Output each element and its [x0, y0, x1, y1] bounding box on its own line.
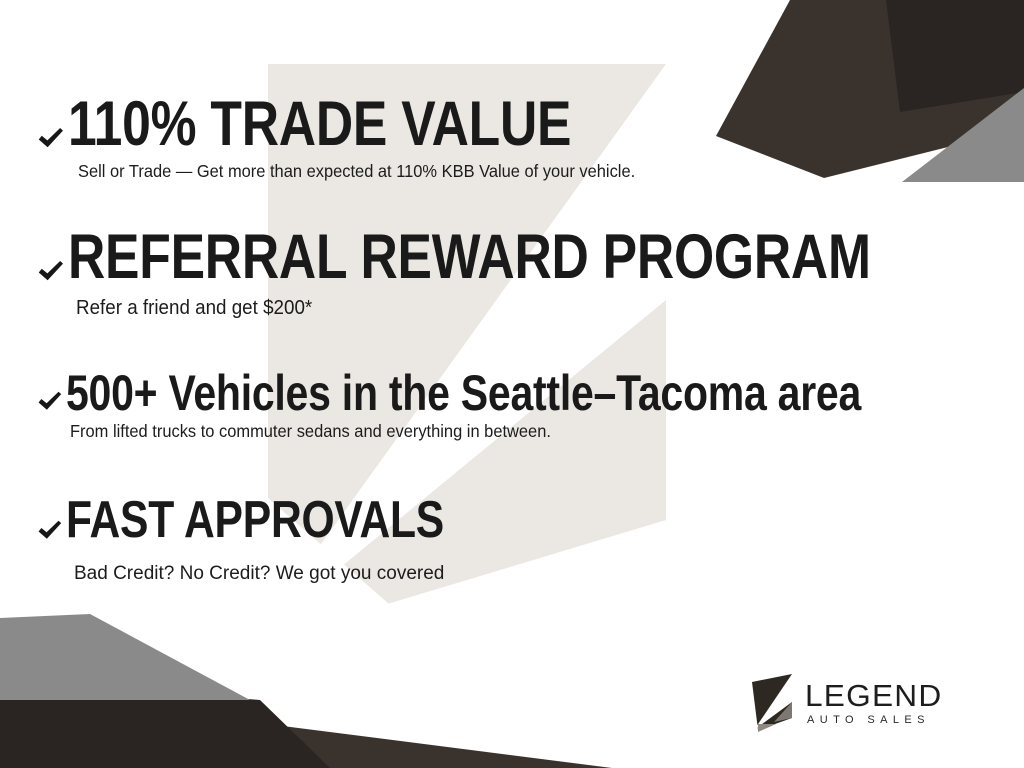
feature-item-fast-approvals: FAST APPROVALS Bad Credit? No Credit? We… [36, 497, 1016, 585]
feature-headline: REFERRAL REWARD PROGRAM [68, 229, 871, 287]
legend-angular-mark-icon [748, 672, 796, 734]
logo-text-block: LEGEND AUTO SALES [805, 680, 940, 727]
check-icon [36, 388, 64, 416]
feature-subtitle: Refer a friend and get $200* [76, 297, 960, 320]
check-icon [36, 124, 66, 154]
feature-subtitle: From lifted trucks to commuter sedans an… [70, 421, 959, 442]
feature-headline-row: 110% TRADE VALUE [36, 96, 1016, 154]
logo-tagline: AUTO SALES [807, 714, 940, 726]
logo-mark-foot [758, 724, 776, 732]
feature-headline-row: REFERRAL REWARD PROGRAM [36, 229, 1016, 287]
brand-logo: LEGEND AUTO SALES [748, 672, 940, 734]
feature-headline: 110% TRADE VALUE [68, 96, 571, 154]
feature-headline: FAST APPROVALS [66, 497, 444, 545]
logo-wordmark: LEGEND [805, 680, 942, 712]
promo-graphic: 110% TRADE VALUE Sell or Trade — Get mor… [0, 0, 1024, 768]
check-icon [36, 257, 66, 287]
feature-headline-row: 500+ Vehicles in the Seattle–Tacoma area [36, 370, 1016, 416]
feature-headline: 500+ Vehicles in the Seattle–Tacoma area [66, 370, 861, 416]
feature-item-inventory-count: 500+ Vehicles in the Seattle–Tacoma area… [36, 370, 1016, 442]
feature-subtitle: Bad Credit? No Credit? We got you covere… [74, 563, 1016, 585]
check-icon [36, 517, 64, 545]
feature-headline-row: FAST APPROVALS [36, 497, 1016, 545]
feature-item-referral-reward: REFERRAL REWARD PROGRAM Refer a friend a… [36, 229, 1016, 320]
feature-item-trade-value: 110% TRADE VALUE Sell or Trade — Get mor… [36, 96, 1016, 182]
feature-subtitle: Sell or Trade — Get more than expected a… [78, 161, 960, 182]
